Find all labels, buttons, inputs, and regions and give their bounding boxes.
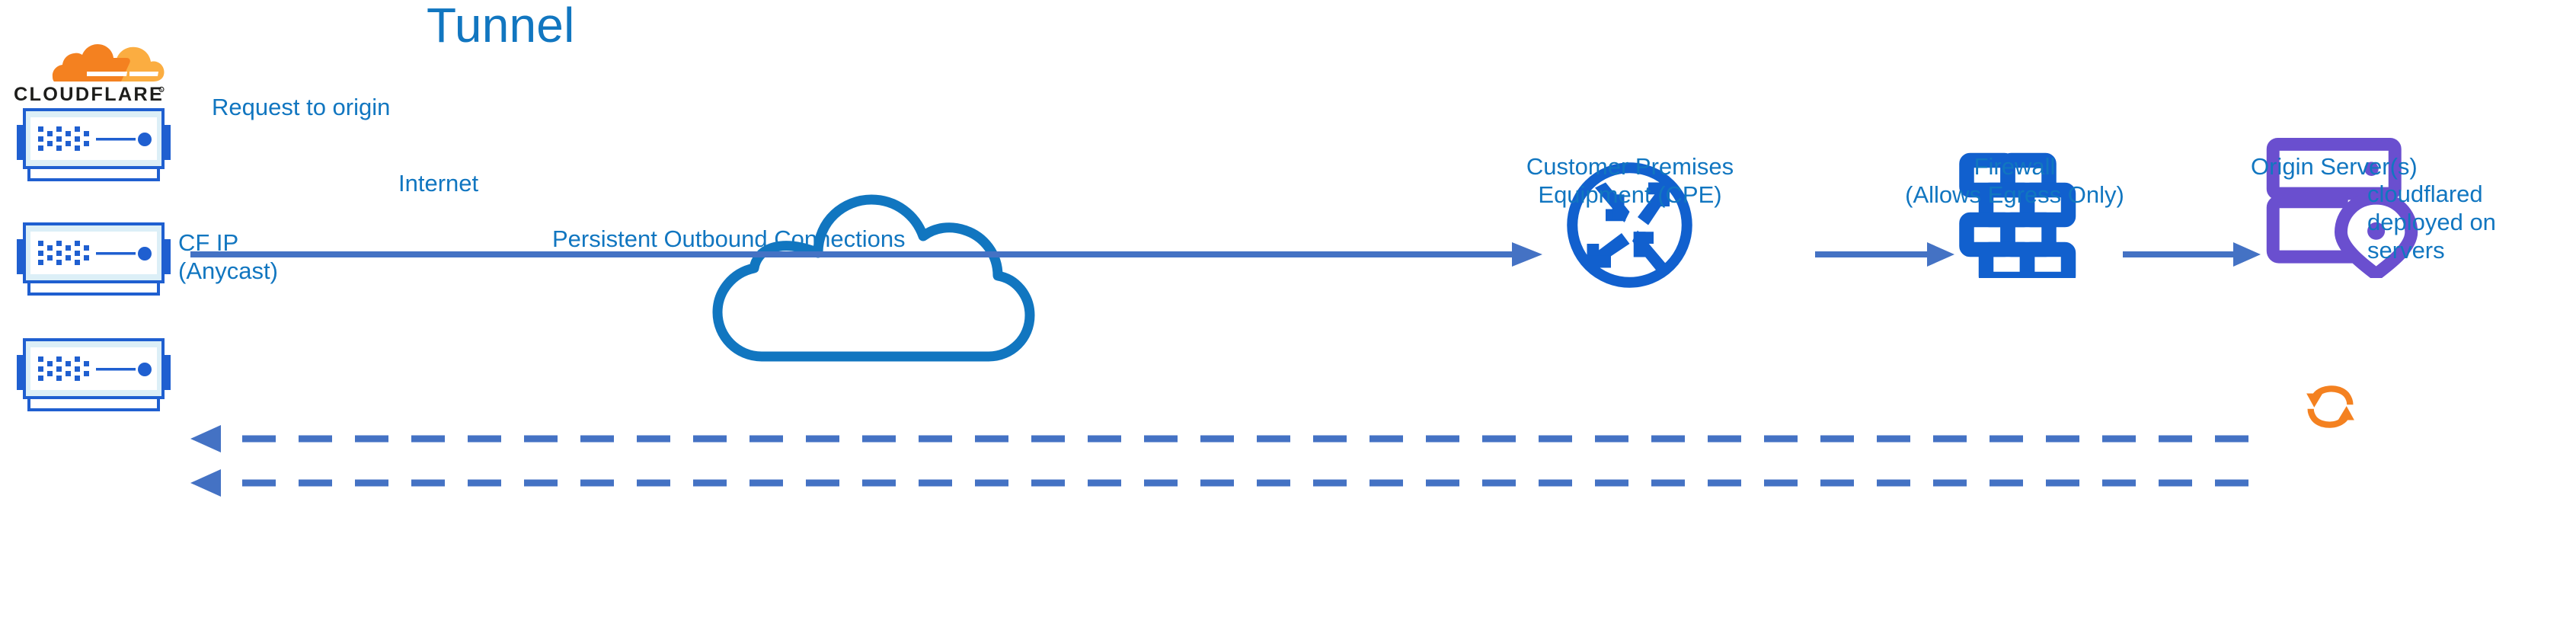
cf-ip-anycast-label: CF IP (Anycast) xyxy=(178,229,278,285)
sync-arrows-circle-icon xyxy=(2302,379,2359,434)
cloudflared-caption-line1: cloudflared xyxy=(2367,180,2520,208)
internet-label: Internet xyxy=(398,169,478,197)
firewall-caption: Firewall (Allows Egress Only) xyxy=(1870,152,2159,209)
firewall-to-origin-arrow xyxy=(2123,242,2261,267)
firewall-caption-line1: Firewall xyxy=(1870,152,2159,181)
firewall-caption-line2: (Allows Egress Only) xyxy=(1870,181,2159,209)
cloudflared-caption: cloudflared deployed on servers xyxy=(2367,180,2520,264)
internet-cloud-outline xyxy=(718,200,1030,356)
origin-caption-line1: Origin Server(s) xyxy=(2251,152,2555,181)
cloudflared-caption-line3: servers xyxy=(2367,236,2520,264)
cpe-caption-line2: Equipment (CPE) xyxy=(1489,181,1771,209)
cloudflared-caption-line2: deployed on xyxy=(2367,208,2520,236)
cf-ip-label-line2: (Anycast) xyxy=(178,257,278,285)
persistent-outbound-connections-label: Persistent Outbound Connections xyxy=(552,225,906,253)
diagram-canvas: Tunnel CLOUDFLARE R xyxy=(0,0,2576,617)
request-to-origin-label: Request to origin xyxy=(212,93,390,121)
cpe-caption-line1: Customer Premises xyxy=(1489,152,1771,181)
cf-ip-label-line1: CF IP xyxy=(178,229,278,257)
origin-server-caption: Origin Server(s) xyxy=(2251,152,2555,181)
cpe-caption: Customer Premises Equipment (CPE) xyxy=(1489,152,1771,209)
cpe-to-firewall-arrow xyxy=(1815,242,1954,267)
persistent-connection-dashed-line-2 xyxy=(190,469,2248,497)
persistent-connection-dashed-line-1 xyxy=(190,425,2248,452)
